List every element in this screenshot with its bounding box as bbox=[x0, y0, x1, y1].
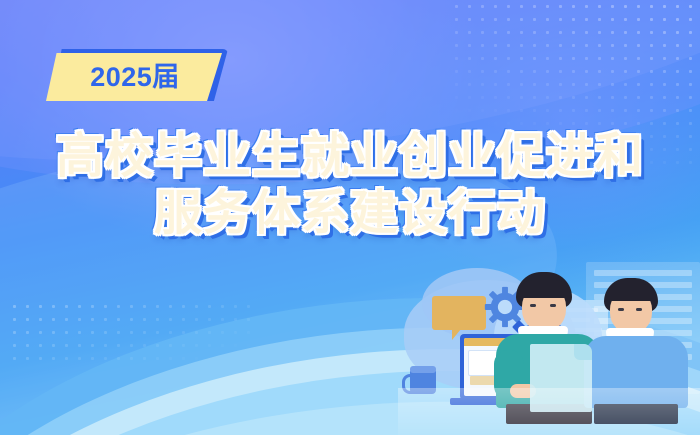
blind-slat bbox=[594, 270, 692, 276]
person-left-eye bbox=[530, 304, 536, 307]
dot-pattern-bottom-left-icon bbox=[8, 300, 258, 370]
surface-reflection bbox=[398, 388, 700, 435]
year-badge-label: 2025届 bbox=[88, 64, 180, 91]
promo-banner: 2025届 高校毕业生就业创业促进和 服务体系建设行动 bbox=[0, 0, 700, 435]
title-line-2: 服务体系建设行动 bbox=[0, 185, 700, 242]
coffee-mug-rim bbox=[410, 366, 436, 373]
person-left-fringe bbox=[518, 280, 570, 298]
year-badge-face: 2025届 bbox=[46, 53, 222, 101]
person-right-eye bbox=[636, 308, 642, 311]
page-title: 高校毕业生就业创业促进和 服务体系建设行动 bbox=[0, 128, 700, 242]
person-right-eye bbox=[618, 308, 624, 311]
person-left-eye bbox=[550, 304, 556, 307]
document-sheet-fold bbox=[574, 344, 592, 360]
person-right-fringe bbox=[606, 284, 656, 301]
year-badge: 2025届 bbox=[46, 47, 226, 103]
title-line-1: 高校毕业生就业创业促进和 bbox=[0, 128, 700, 185]
speech-bubble-icon bbox=[432, 296, 486, 330]
illustration bbox=[398, 262, 700, 435]
